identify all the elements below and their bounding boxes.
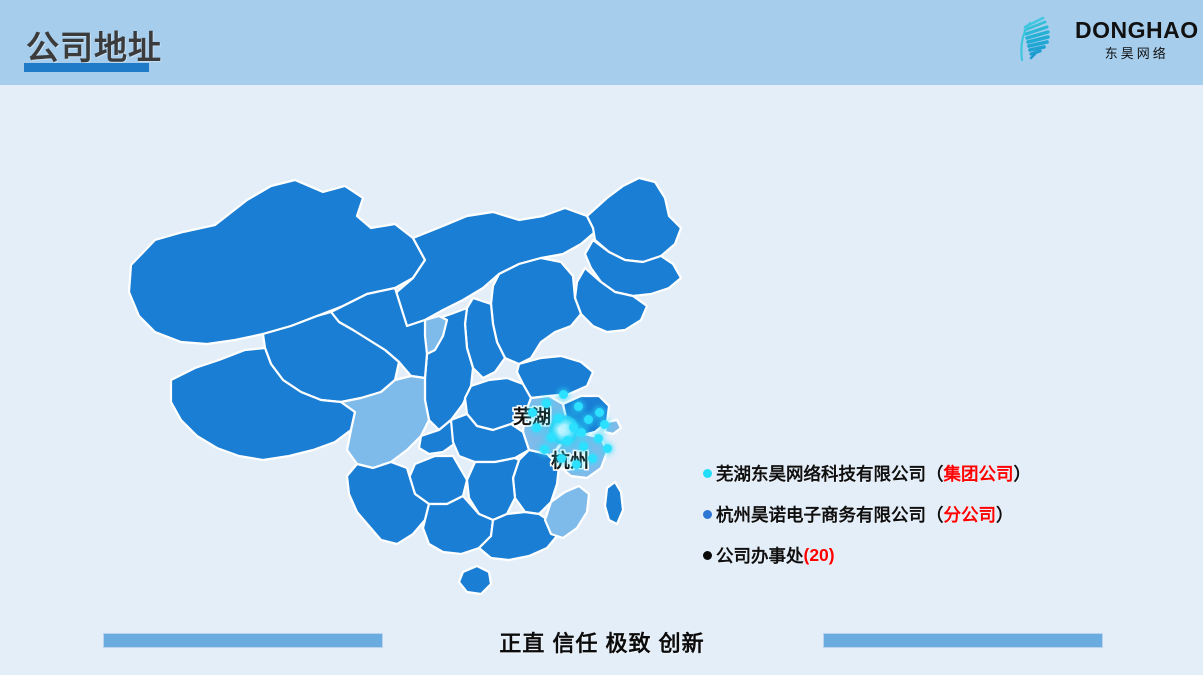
legend-bullet-icon bbox=[703, 551, 712, 560]
legend-item-branch-company[interactable]: 杭州昊诺电子商务有限公司（ 分公司 ） bbox=[703, 503, 1031, 525]
legend-suffix: ） bbox=[996, 502, 1014, 527]
legend-accent: (20) bbox=[804, 545, 835, 566]
province-hebei bbox=[491, 258, 581, 364]
footer-bar-right bbox=[823, 633, 1103, 648]
legend-accent: 集团公司 bbox=[944, 461, 1014, 486]
page-title: 公司地址 bbox=[26, 21, 162, 69]
legend-label: 杭州昊诺电子商务有限公司（ bbox=[716, 502, 944, 527]
office-dot-marker[interactable] bbox=[547, 433, 556, 442]
company-logo: DONGHAO 东昊网络 bbox=[1011, 6, 1191, 72]
legend-accent: 分公司 bbox=[944, 502, 997, 527]
office-dot-marker[interactable] bbox=[528, 408, 537, 417]
office-dot-marker[interactable] bbox=[542, 399, 551, 408]
office-dot-marker[interactable] bbox=[559, 390, 568, 399]
logo-text-group: DONGHAO 东昊网络 bbox=[1075, 19, 1199, 60]
office-dot-marker[interactable] bbox=[577, 428, 586, 437]
office-dot-marker[interactable] bbox=[540, 445, 549, 454]
office-dot-marker[interactable] bbox=[588, 454, 597, 463]
logo-subtitle: 东昊网络 bbox=[1075, 47, 1199, 60]
legend: 芜湖东昊网络科技有限公司（ 集团公司 ） 杭州昊诺电子商务有限公司（ 分公司 ）… bbox=[703, 462, 1031, 585]
slide-header: 公司地址 DONGHAO 东昊网络 bbox=[0, 0, 1203, 85]
slide-canvas: 公司地址 DONGHAO 东昊网络 bbox=[0, 0, 1203, 675]
office-dot-marker[interactable] bbox=[603, 444, 612, 453]
legend-label: 芜湖东昊网络科技有限公司（ bbox=[716, 461, 944, 486]
office-dot-marker[interactable] bbox=[557, 454, 566, 463]
office-dot-marker[interactable] bbox=[594, 434, 603, 443]
legend-bullet-icon bbox=[703, 510, 712, 519]
office-dot-marker[interactable] bbox=[563, 436, 572, 445]
legend-item-group-company[interactable]: 芜湖东昊网络科技有限公司（ 集团公司 ） bbox=[703, 462, 1031, 484]
province-hainan bbox=[459, 566, 491, 594]
legend-label: 公司办事处 bbox=[716, 543, 804, 568]
office-dot-marker[interactable] bbox=[532, 423, 541, 432]
province-taiwan bbox=[605, 482, 623, 524]
legend-suffix: ） bbox=[1014, 461, 1032, 486]
legend-bullet-icon bbox=[703, 469, 712, 478]
wing-fan-icon bbox=[1011, 8, 1073, 70]
title-underline bbox=[24, 63, 149, 72]
office-dot-marker[interactable] bbox=[600, 420, 609, 429]
china-map-container: 芜湖 杭州 bbox=[95, 120, 755, 620]
legend-item-offices[interactable]: 公司办事处 (20) bbox=[703, 544, 1031, 566]
office-dot-marker[interactable] bbox=[554, 414, 563, 423]
footer-bar-left bbox=[103, 633, 383, 648]
office-dot-marker[interactable] bbox=[584, 415, 593, 424]
office-dot-marker[interactable] bbox=[574, 402, 583, 411]
office-dot-marker[interactable] bbox=[572, 460, 581, 469]
logo-name: DONGHAO bbox=[1075, 19, 1199, 42]
office-dot-marker[interactable] bbox=[595, 408, 604, 417]
footer-slogan: 正直 信任 极致 创新 bbox=[455, 626, 749, 658]
province-shandong bbox=[517, 356, 593, 398]
office-dot-marker[interactable] bbox=[579, 442, 588, 451]
china-map-svg bbox=[95, 120, 755, 620]
